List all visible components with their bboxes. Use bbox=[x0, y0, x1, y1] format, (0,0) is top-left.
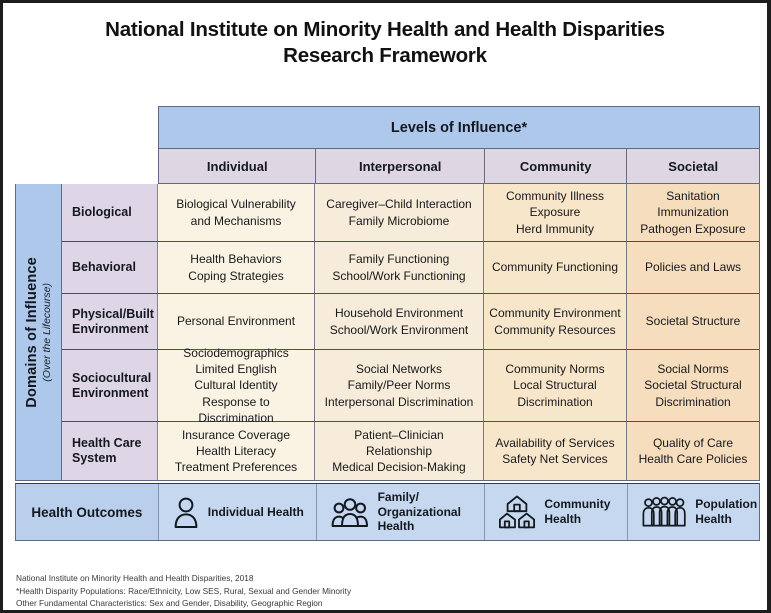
table-row: Physical/BuiltEnvironment Personal Envir… bbox=[62, 294, 759, 350]
level-column-headers: Individual Interpersonal Community Socie… bbox=[158, 149, 760, 184]
outcome-population-health-label: PopulationHealth bbox=[695, 497, 757, 526]
level-header-interpersonal: Interpersonal bbox=[316, 149, 484, 183]
outcome-community-health: CommunityHealth bbox=[485, 484, 628, 540]
level-header-individual: Individual bbox=[159, 149, 316, 183]
domain-label-health-care-system: Health CareSystem bbox=[62, 422, 158, 480]
framework-grid: Levels of Influence* Individual Interper… bbox=[15, 106, 760, 541]
domain-label-physical-built-environment: Physical/BuiltEnvironment bbox=[62, 294, 158, 349]
matrix-rows: Biological Biological Vulnerabilityand M… bbox=[62, 184, 759, 480]
cell-healthcare-societal: Quality of CareHealth Care Policies bbox=[627, 422, 759, 480]
title-line-2: Research Framework bbox=[43, 43, 727, 69]
domain-label-biological: Biological bbox=[62, 184, 158, 241]
outcome-community-health-label: CommunityHealth bbox=[544, 497, 610, 526]
matrix-body: Domains of Influence (Over the Lifecours… bbox=[15, 184, 760, 481]
cell-sociocultural-community: Community NormsLocal StructuralDiscrimin… bbox=[484, 350, 627, 421]
table-row: Health CareSystem Insurance CoverageHeal… bbox=[62, 422, 759, 480]
cell-biological-societal: SanitationImmunizationPathogen Exposure bbox=[627, 184, 759, 241]
cell-physical-interpersonal: Household EnvironmentSchool/Work Environ… bbox=[315, 294, 484, 349]
cell-behavioral-interpersonal: Family FunctioningSchool/Work Functionin… bbox=[315, 242, 484, 293]
cell-behavioral-societal: Policies and Laws bbox=[627, 242, 759, 293]
crowd-icon bbox=[642, 496, 686, 528]
houses-icon bbox=[499, 495, 535, 529]
health-outcomes-label: Health Outcomes bbox=[16, 484, 159, 540]
domains-axis-title: Domains of Influence bbox=[24, 257, 41, 408]
cell-sociocultural-individual: SociodemographicsLimited EnglishCultural… bbox=[158, 350, 315, 421]
cell-sociocultural-societal: Social NormsSocietal StructuralDiscrimin… bbox=[627, 350, 759, 421]
domain-label-sociocultural-environment: SocioculturalEnvironment bbox=[62, 350, 158, 421]
outcome-family-organizational-health: Family/OrganizationalHealth bbox=[317, 484, 486, 540]
cell-healthcare-interpersonal: Patient–Clinician RelationshipMedical De… bbox=[315, 422, 484, 480]
person-icon bbox=[173, 496, 199, 528]
cell-biological-community: Community IllnessExposureHerd Immunity bbox=[484, 184, 627, 241]
table-row: Behavioral Health BehaviorsCoping Strate… bbox=[62, 242, 759, 294]
cell-biological-individual: Biological Vulnerabilityand Mechanisms bbox=[158, 184, 315, 241]
cell-physical-societal: Societal Structure bbox=[627, 294, 759, 349]
framework-poster: National Institute on Minority Health an… bbox=[0, 0, 771, 613]
cell-healthcare-individual: Insurance CoverageHealth LiteracyTreatme… bbox=[158, 422, 315, 480]
outcome-family-health-label: Family/OrganizationalHealth bbox=[378, 490, 461, 534]
table-row: Biological Biological Vulnerabilityand M… bbox=[62, 184, 759, 242]
family-group-icon bbox=[331, 496, 369, 528]
cell-physical-individual: Personal Environment bbox=[158, 294, 315, 349]
footnotes: National Institute on Minority Health an… bbox=[16, 572, 351, 610]
outcome-individual-health-label: Individual Health bbox=[208, 505, 304, 520]
cell-biological-interpersonal: Caregiver–Child InteractionFamily Microb… bbox=[315, 184, 484, 241]
level-header-societal: Societal bbox=[627, 149, 759, 183]
outcome-population-health: PopulationHealth bbox=[628, 484, 759, 540]
page-title: National Institute on Minority Health an… bbox=[3, 3, 767, 75]
footnote-disparity-populations: *Health Disparity Populations: Race/Ethn… bbox=[16, 585, 351, 598]
domains-of-influence-axis: Domains of Influence (Over the Lifecours… bbox=[16, 184, 62, 480]
cell-behavioral-community: Community Functioning bbox=[484, 242, 627, 293]
domain-label-behavioral: Behavioral bbox=[62, 242, 158, 293]
cell-physical-community: Community EnvironmentCommunity Resources bbox=[484, 294, 627, 349]
levels-of-influence-header: Levels of Influence* Individual Interper… bbox=[158, 106, 760, 184]
level-header-community: Community bbox=[485, 149, 628, 183]
cell-behavioral-individual: Health BehaviorsCoping Strategies bbox=[158, 242, 315, 293]
levels-of-influence-title: Levels of Influence* bbox=[158, 106, 760, 149]
health-outcomes-row: Health Outcomes Individual Health Fam bbox=[15, 483, 760, 541]
outcome-individual-health: Individual Health bbox=[159, 484, 317, 540]
footnote-source: National Institute on Minority Health an… bbox=[16, 572, 351, 585]
domains-axis-subtitle: (Over the Lifecourse) bbox=[41, 257, 53, 408]
footnote-fundamental-characteristics: Other Fundamental Characteristics: Sex a… bbox=[16, 597, 351, 610]
cell-sociocultural-interpersonal: Social NetworksFamily/Peer NormsInterper… bbox=[315, 350, 484, 421]
table-row: SocioculturalEnvironment Sociodemographi… bbox=[62, 350, 759, 422]
cell-healthcare-community: Availability of ServicesSafety Net Servi… bbox=[484, 422, 627, 480]
title-line-1: National Institute on Minority Health an… bbox=[43, 17, 727, 43]
